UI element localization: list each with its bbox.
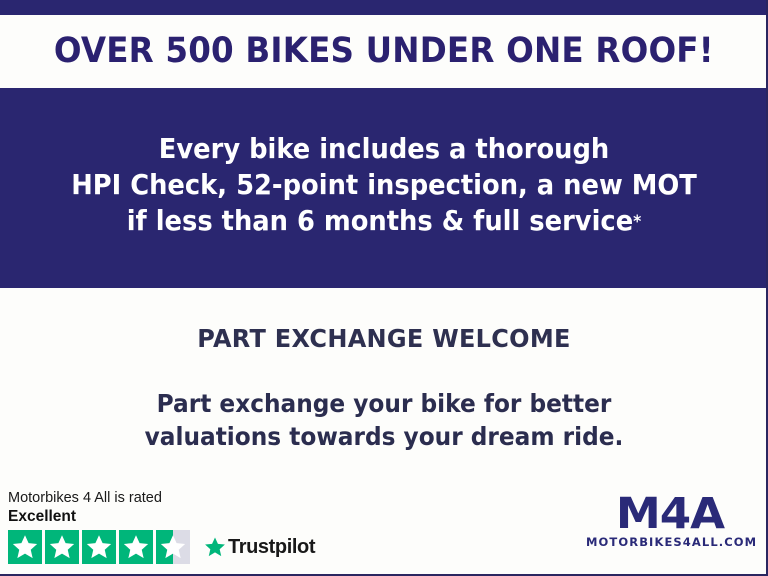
top-accent-stripe xyxy=(0,0,768,15)
footer-band: Motorbikes 4 All is rated Excellent xyxy=(0,478,768,576)
inclusions-line-2: HPI Check, 52-point inspection, a new MO… xyxy=(71,167,697,203)
inclusions-line-3: if less than 6 months & full service* xyxy=(71,203,697,239)
trustpilot-logo[interactable]: Trustpilot xyxy=(204,536,315,559)
star-icon xyxy=(82,530,116,564)
part-exchange-block: PART EXCHANGE WELCOME Part exchange your… xyxy=(0,288,768,478)
star-icon xyxy=(8,530,42,564)
page-title: OVER 500 BIKES UNDER ONE ROOF! xyxy=(54,34,714,69)
star-icon xyxy=(45,530,79,564)
trustpilot-rating-label: Excellent xyxy=(8,508,328,527)
footnote-asterisk: * xyxy=(633,212,641,232)
trustpilot-widget[interactable]: Motorbikes 4 All is rated Excellent xyxy=(8,490,328,564)
trustpilot-rated-text: Motorbikes 4 All is rated xyxy=(8,490,328,507)
part-exchange-line-1: Part exchange your bike for better xyxy=(27,388,741,421)
m4a-logo[interactable]: M4A MOTORBIKES4ALL.COM xyxy=(586,495,754,548)
part-exchange-heading: PART EXCHANGE WELCOME xyxy=(15,326,752,351)
inclusions-line-1: Every bike includes a thorough xyxy=(71,131,697,167)
trustpilot-rating-row: Trustpilot xyxy=(8,530,328,564)
inclusions-block: Every bike includes a thorough HPI Check… xyxy=(0,88,768,288)
trustpilot-brand-name: Trustpilot xyxy=(228,536,315,559)
inclusions-text: Every bike includes a thorough HPI Check… xyxy=(71,131,697,244)
trustpilot-star-rating xyxy=(8,530,190,564)
headline-band: OVER 500 BIKES UNDER ONE ROOF! xyxy=(0,15,768,88)
part-exchange-line-2: valuations towards your dream ride. xyxy=(27,421,741,454)
promo-banner: OVER 500 BIKES UNDER ONE ROOF! Every bik… xyxy=(0,0,768,576)
star-icon xyxy=(119,530,153,564)
part-exchange-body: Part exchange your bike for better valua… xyxy=(27,388,741,453)
inclusions-line-3-text: if less than 6 months & full service xyxy=(127,204,633,237)
half-star-icon xyxy=(156,530,190,564)
m4a-logo-mark: M4A xyxy=(582,495,758,535)
trustpilot-star-icon xyxy=(204,536,226,558)
